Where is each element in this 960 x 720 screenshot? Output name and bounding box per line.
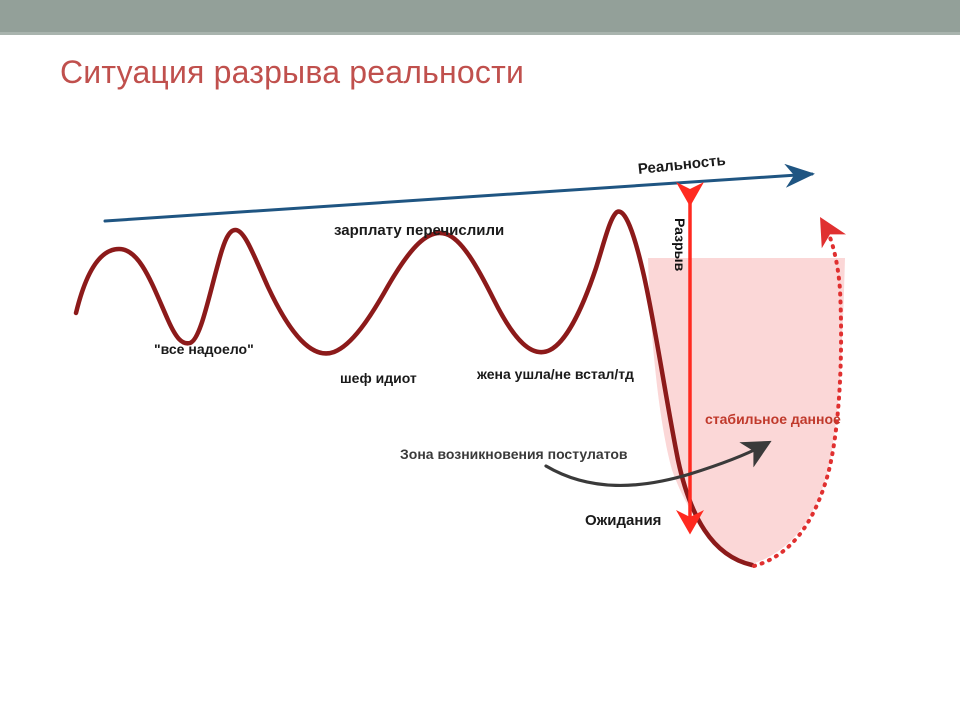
reality-trend-line — [105, 174, 812, 221]
slide-canvas: Ситуация разрыва реальности — [0, 0, 960, 720]
label-wife-left: жена ушла/не встал/тд — [477, 366, 634, 382]
label-stable-datum: стабильное данное — [705, 411, 841, 427]
reality-gap-diagram — [0, 0, 960, 720]
label-expectations: Ожидания — [585, 512, 661, 529]
label-salary-transferred: зарплату перечислили — [334, 222, 504, 239]
label-postulate-zone: Зона возникновения постулатов — [400, 446, 628, 462]
label-boss-idiot: шеф идиот — [340, 370, 417, 386]
label-fed-up: "все надоело" — [154, 341, 254, 357]
label-gap: Разрыв — [672, 218, 688, 271]
